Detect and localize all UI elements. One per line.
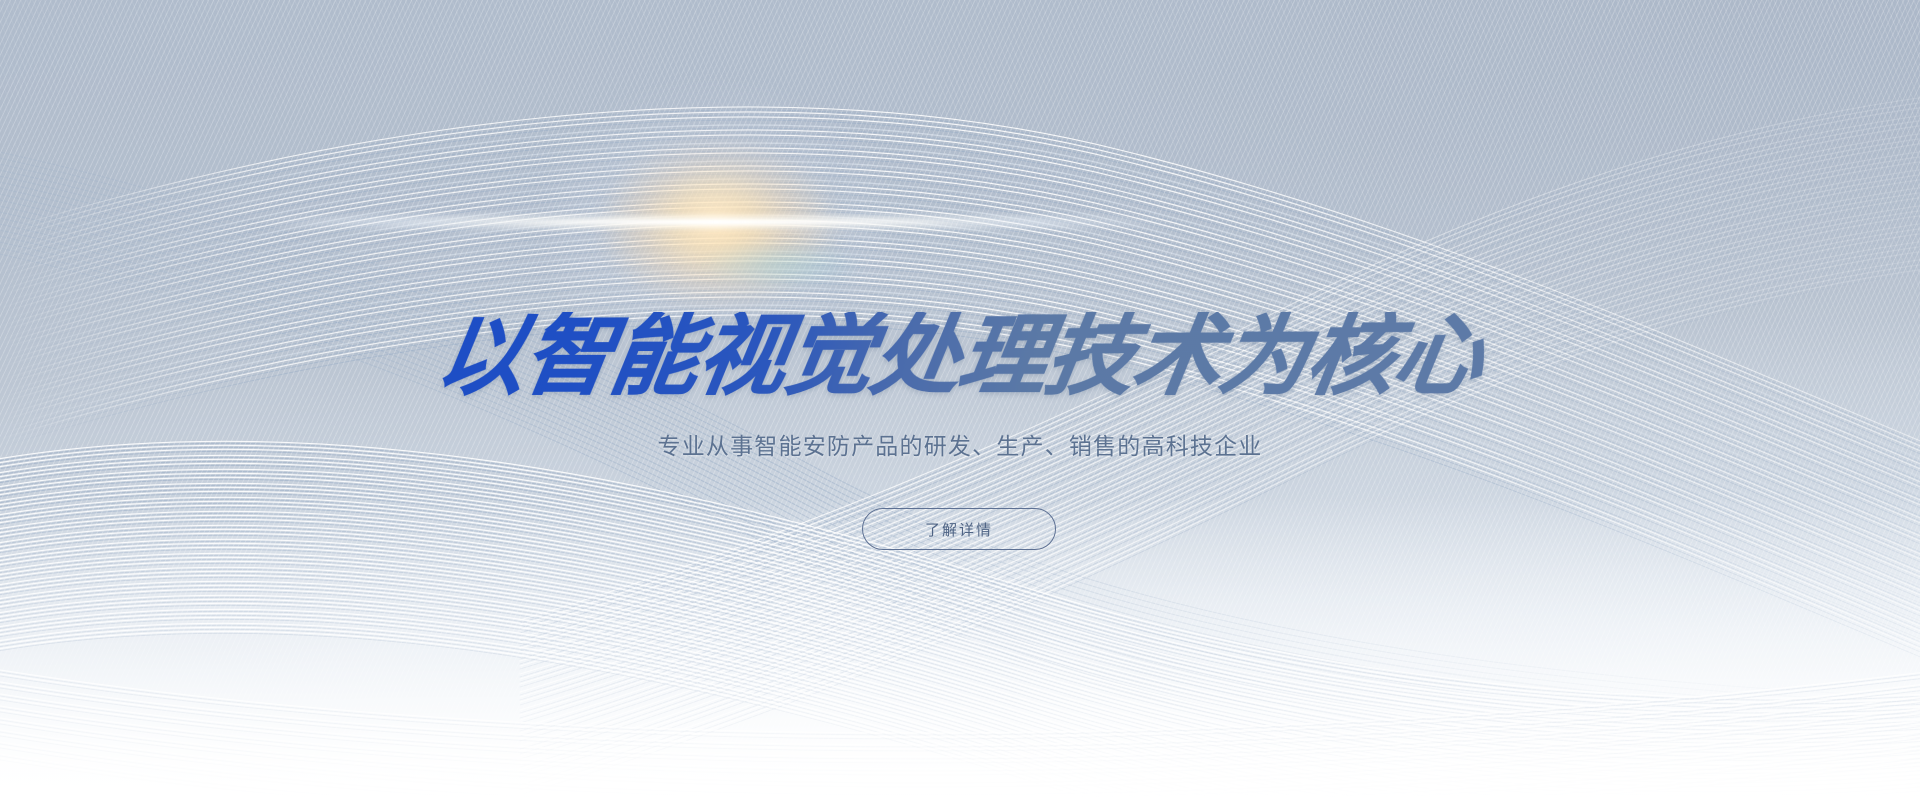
hero-banner: 以智能视觉处理技术为核心 专业从事智能安防产品的研发、生产、销售的高科技企业 了… bbox=[0, 0, 1920, 800]
hero-content: 以智能视觉处理技术为核心 专业从事智能安防产品的研发、生产、销售的高科技企业 了… bbox=[0, 0, 1920, 800]
page-title: 以智能视觉处理技术为核心 bbox=[0, 312, 1920, 400]
learn-more-button[interactable]: 了解详情 bbox=[862, 508, 1056, 550]
hero-subtitle: 专业从事智能安防产品的研发、生产、销售的高科技企业 bbox=[0, 430, 1920, 462]
